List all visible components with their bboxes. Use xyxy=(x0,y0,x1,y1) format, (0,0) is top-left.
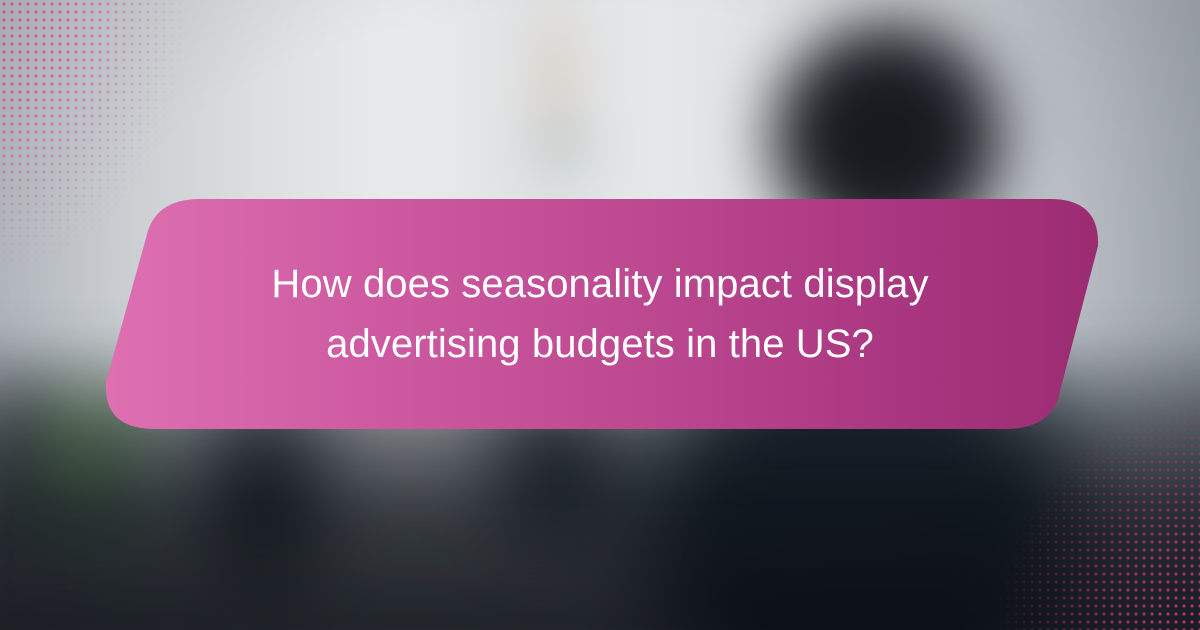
question-banner-shape xyxy=(0,196,1200,432)
question-banner: How does seasonality impact display adve… xyxy=(0,196,1200,432)
social-card: How does seasonality impact display adve… xyxy=(0,0,1200,630)
